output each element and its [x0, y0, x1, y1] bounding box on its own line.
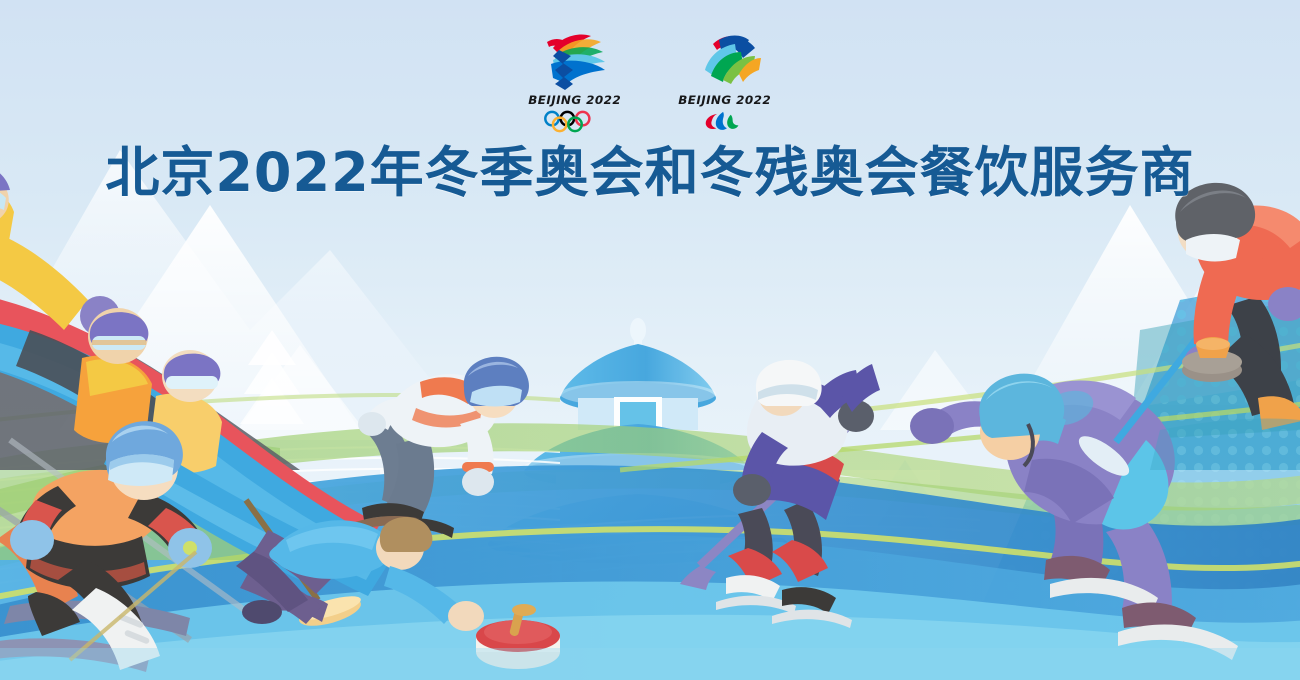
emblem-row: BEIJING 2022 [0, 30, 1300, 140]
olympic-rings-icon [537, 110, 613, 133]
paralympic-wordmark: BEIJING 2022 [679, 93, 772, 107]
paralympic-emblem-block: BEIJING 2022 [676, 30, 774, 133]
olympic-wordmark: BEIJING 2022 [529, 93, 622, 107]
page-title: 北京2022年冬季奥会和冬残奥会餐饮服务商 [0, 143, 1300, 203]
beijing-2022-paralympic-emblem-icon [683, 30, 767, 92]
beijing-2022-olympic-emblem-icon [533, 30, 617, 92]
paralympic-agitos-icon [687, 110, 763, 133]
olympic-emblem-block: BEIJING 2022 [526, 30, 624, 133]
beijing-2022-catering-banner: BEIJING 2022 [0, 0, 1300, 680]
